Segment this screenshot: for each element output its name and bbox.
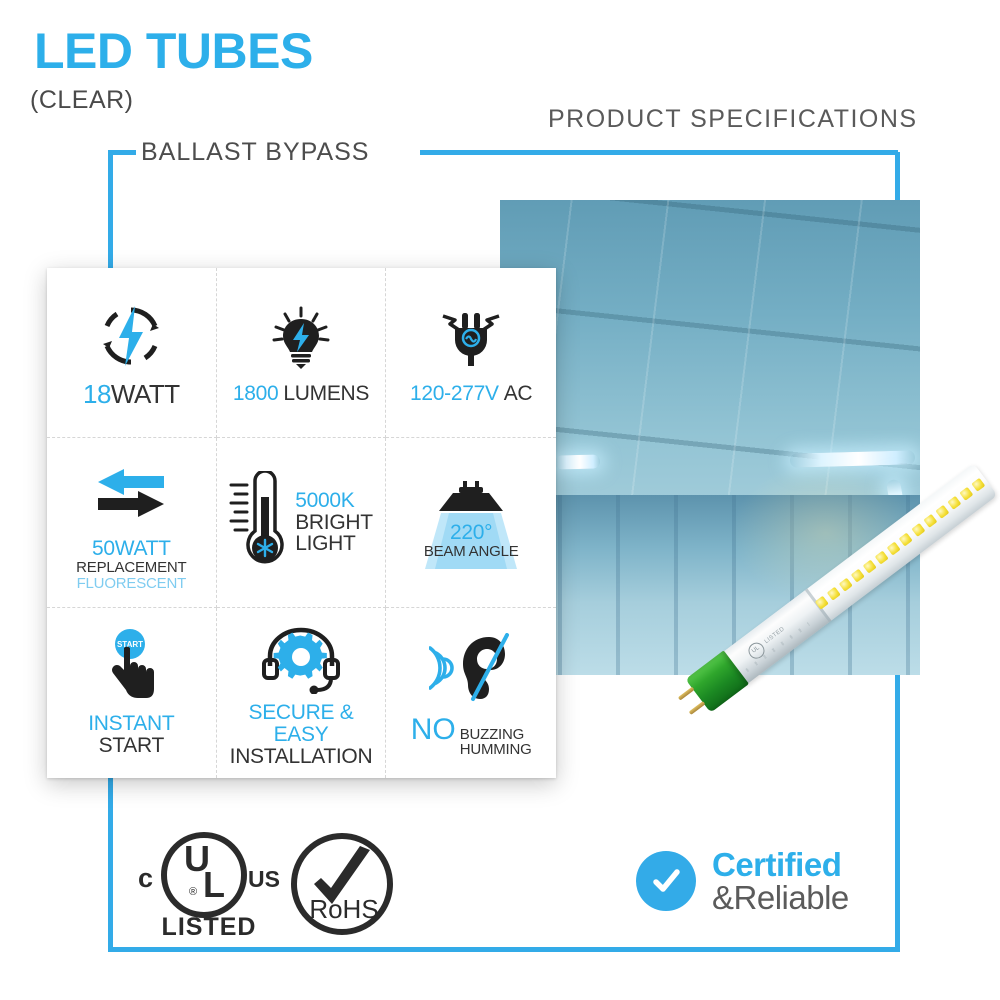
spec-cell-lumens: 1800LUMENS <box>217 268 387 438</box>
spec-value: 5000K <box>295 490 373 511</box>
spec-label-beam-angle: 220° BEAM ANGLE <box>424 522 519 560</box>
spec-line2: INSTALLATION <box>221 746 382 768</box>
spec-cell-wattage: 18WATT <box>47 268 217 438</box>
svg-text:START: START <box>117 640 143 649</box>
spec-line2: BUZZING <box>460 727 532 742</box>
svg-text:LISTED: LISTED <box>162 913 257 941</box>
spec-line3: LIGHT <box>295 533 373 554</box>
spec-label-color-temperature: 5000K BRIGHT LIGHT <box>295 490 373 554</box>
frame-top-right-segment <box>420 150 898 155</box>
spec-value: 50WATT <box>76 538 186 560</box>
spec-line2: START <box>88 735 174 757</box>
spec-value: INSTANT <box>88 713 174 735</box>
application-photo-warehouse-ceiling <box>500 200 920 675</box>
spec-value: NO <box>411 714 456 746</box>
spec-cell-instant-start: START INSTANT START <box>47 608 217 778</box>
tube-bi-pin <box>678 687 695 701</box>
check-circle-icon <box>636 851 696 911</box>
callout-ballast-bypass: BALLAST BYPASS <box>141 138 369 167</box>
infographic-page: LED TUBES (CLEAR) PRODUCT SPECIFICATIONS… <box>0 0 1000 1000</box>
spec-label-instant-start: INSTANT START <box>88 713 174 757</box>
spec-label-no-noise: NO BUZZING HUMMING <box>411 714 532 757</box>
spec-label-voltage: 120-277VAC <box>410 383 532 405</box>
ul-listed-badge: c U L ® US LISTED <box>134 825 284 943</box>
spec-line2: REPLACEMENT <box>76 560 186 576</box>
lightbulb-bolt-icon <box>269 299 333 377</box>
svg-text:RoHS: RoHS <box>309 894 378 924</box>
spec-cell-color-temperature: 5000K BRIGHT LIGHT <box>217 438 387 608</box>
specifications-card: 18WATT <box>47 268 556 778</box>
svg-text:US: US <box>248 866 280 892</box>
section-heading-product-specifications: PRODUCT SPECIFICATIONS <box>548 105 918 134</box>
specifications-grid: 18WATT <box>47 268 556 778</box>
spec-line3: HUMMING <box>460 742 532 757</box>
thermometer-icon <box>229 484 285 562</box>
photo-window-glow <box>731 461 920 604</box>
power-plug-icon <box>439 299 503 377</box>
spec-line2: BEAM ANGLE <box>424 544 519 560</box>
spec-value: 1800 <box>233 383 279 405</box>
hand-press-start-button-icon: START <box>94 629 168 707</box>
spec-line3: FLUORESCENT <box>76 576 186 592</box>
svg-text:®: ® <box>189 886 197 898</box>
certified-line-1: Certified <box>712 848 849 881</box>
power-cycle-bolt-icon <box>99 297 163 375</box>
spec-cell-voltage: 120-277VAC <box>386 268 556 438</box>
spec-value: 18 <box>83 379 111 409</box>
certified-line-2: &Reliable <box>712 881 849 914</box>
certified-text: Certified &Reliable <box>712 848 849 914</box>
headset-gear-support-icon <box>258 618 344 696</box>
spec-label-wattage: 18WATT <box>83 381 180 408</box>
spec-unit: AC <box>504 383 533 405</box>
page-title: LED TUBES <box>34 26 313 76</box>
spec-cell-replacement: 50WATT REPLACEMENT FLUORESCENT <box>47 438 217 608</box>
spec-label-installation: SECURE & EASY INSTALLATION <box>221 702 382 768</box>
rohs-badge: RoHS <box>290 832 394 936</box>
spec-cell-installation: SECURE & EASY INSTALLATION <box>217 608 387 778</box>
tube-bi-pin <box>689 701 706 715</box>
page-subtitle: (CLEAR) <box>30 86 134 115</box>
photo-light-fixture <box>555 454 600 469</box>
spec-unit: LUMENS <box>283 383 369 405</box>
spec-value: 120-277V <box>410 383 499 405</box>
spec-line2: BRIGHT <box>295 512 373 533</box>
svg-text:c: c <box>138 863 153 893</box>
spec-value: 220° <box>424 522 519 544</box>
spec-label-replacement: 50WATT REPLACEMENT FLUORESCENT <box>76 538 186 592</box>
no-noise-ear-icon <box>429 630 513 708</box>
replacement-arrows-icon <box>94 454 168 532</box>
spec-unit: WATT <box>111 379 180 409</box>
spec-label-lumens: 1800LUMENS <box>233 383 369 405</box>
spec-cell-no-noise: NO BUZZING HUMMING <box>386 608 556 778</box>
frame-bottom-edge <box>108 947 900 952</box>
svg-text:L: L <box>203 864 225 905</box>
spec-cell-beam-angle: 220° BEAM ANGLE <box>386 438 556 608</box>
certified-reliable-block: Certified &Reliable <box>636 848 849 914</box>
spec-value: SECURE & EASY <box>221 702 382 746</box>
